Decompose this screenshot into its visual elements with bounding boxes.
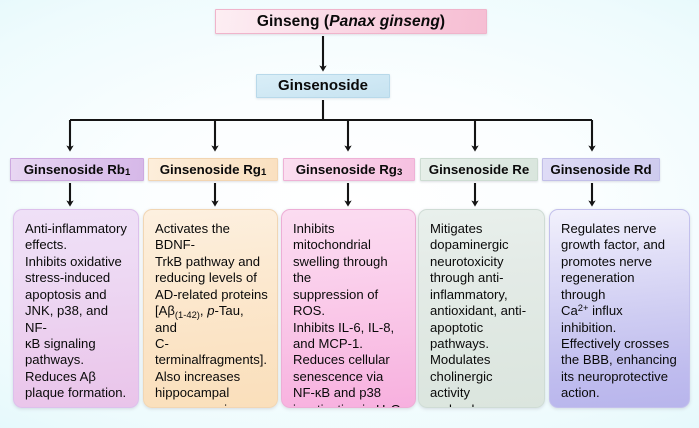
content-line: Effectively crosses	[561, 336, 681, 352]
content-line: growth factor, and	[561, 237, 681, 253]
root-node-ginseng: Ginseng (Panax ginseng)	[215, 9, 487, 34]
content-line: suppression of ROS.	[293, 287, 407, 320]
content-line: effects.	[25, 237, 130, 253]
content-line: Inhibits mitochondrial	[293, 221, 407, 254]
content-line: the BBB, enhancing	[561, 352, 681, 368]
branch-label-rd-text: Ginsenoside Rd	[550, 162, 651, 177]
content-line: swelling through the	[293, 254, 407, 287]
content-line: dopaminergic	[430, 237, 536, 253]
content-line: stress-induced	[25, 270, 130, 286]
content-line: pathways.	[25, 352, 130, 368]
branch-label-rb1-text: Ginsenoside Rb	[24, 162, 125, 177]
content-line: antioxidant, anti-	[430, 303, 536, 319]
content-line: κB signaling	[25, 336, 130, 352]
content-line: C-terminalfragments].	[155, 336, 269, 369]
content-line: neurotoxicity	[430, 254, 536, 270]
branch-label-rb1-subscript: 1	[125, 167, 130, 178]
content-box-rd: Regulates nervegrowth factor, andpromote…	[549, 209, 690, 408]
root-label-prefix: Ginseng (	[257, 13, 329, 31]
content-box-rg1: Activates the BDNF-TrkB pathway andreduc…	[143, 209, 278, 408]
content-line: hippocampal	[155, 385, 269, 401]
content-line: Mitigates	[430, 221, 536, 237]
root-scientific-name: Panax ginseng	[329, 13, 440, 31]
content-line: neurogenesis	[155, 402, 269, 408]
content-line: Inhibits IL-6, IL-8,	[293, 320, 407, 336]
content-line: TrkB pathway and	[155, 254, 269, 270]
subscript: (1-42)	[175, 309, 200, 320]
level2-label: Ginsenoside	[278, 77, 368, 94]
branch-label-rg3: Ginsenoside Rg3	[283, 158, 415, 181]
ginsenoside-pathway-diagram: Ginseng (Panax ginseng) Ginsenoside Gins…	[0, 0, 699, 428]
root-label-suffix: )	[440, 13, 445, 31]
branch-label-rb1: Ginsenoside Rb1	[10, 158, 144, 181]
content-line: Anti-inflammatory	[25, 221, 130, 237]
content-box-rb1: Anti-inflammatoryeffects.Inhibits oxidat…	[13, 209, 139, 408]
content-line: through anti-	[430, 270, 536, 286]
content-line: NF-κB and p38	[293, 385, 407, 401]
branch-label-re: Ginsenoside Re	[420, 158, 538, 181]
content-line: its neuroprotective	[561, 369, 681, 385]
content-line: plaque formation.	[25, 385, 130, 401]
content-line: cholinergic activity	[430, 369, 536, 402]
content-line: Also increases	[155, 369, 269, 385]
content-line: Reduces Aβ	[25, 369, 130, 385]
content-line: Modulates	[430, 352, 536, 368]
content-line: and MCP-1.	[293, 336, 407, 352]
content-line: and reduces	[430, 402, 536, 408]
content-line: inactivation in H2O2	[293, 402, 407, 408]
content-line: apoptotic pathways.	[430, 320, 536, 353]
content-line: action.	[561, 385, 681, 401]
content-line: Activates the BDNF-	[155, 221, 269, 254]
italic-text: p	[207, 303, 214, 318]
branch-label-rd: Ginsenoside Rd	[542, 158, 660, 181]
content-line: JNK, p38, and NF-	[25, 303, 130, 336]
content-line: [Aβ(1-42), p-Tau, and	[155, 303, 269, 336]
branch-label-rg3-text: Ginsenoside Rg	[296, 162, 397, 177]
content-line: regeneration through	[561, 270, 681, 303]
content-box-rg3: Inhibits mitochondrialswelling through t…	[281, 209, 416, 408]
branch-label-rg1-subscript: 1	[261, 167, 266, 178]
content-line: Ca2+ influx inhibition.	[561, 303, 681, 336]
node-ginsenoside: Ginsenoside	[256, 74, 390, 98]
branch-label-re-text: Ginsenoside Re	[429, 162, 530, 177]
content-box-re: Mitigatesdopaminergicneurotoxicitythroug…	[418, 209, 545, 408]
content-line: senescence via	[293, 369, 407, 385]
content-line: AD-related proteins	[155, 287, 269, 303]
branch-label-rg1: Ginsenoside Rg1	[148, 158, 278, 181]
content-line: apoptosis and	[25, 287, 130, 303]
content-line: promotes nerve	[561, 254, 681, 270]
content-line: reducing levels of	[155, 270, 269, 286]
content-line: Regulates nerve	[561, 221, 681, 237]
branch-label-rg1-text: Ginsenoside Rg	[160, 162, 261, 177]
content-line: Inhibits oxidative	[25, 254, 130, 270]
branch-label-rg3-subscript: 3	[397, 167, 402, 178]
content-line: Reduces cellular	[293, 352, 407, 368]
superscript: 2+	[578, 302, 589, 313]
content-line: inflammatory,	[430, 287, 536, 303]
